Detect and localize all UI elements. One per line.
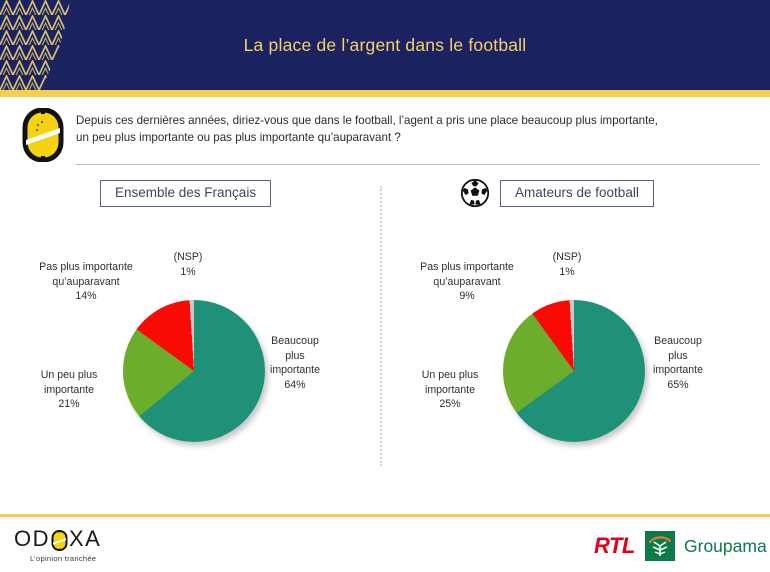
odoxa-brand: OD XA L’opinion tranchée xyxy=(14,527,194,563)
label-line-2: qu’auparavant xyxy=(387,275,547,290)
groupama-wordmark: Groupama xyxy=(684,536,767,556)
odoxa-logo-mark xyxy=(20,108,66,162)
pie-label-pas-plus-importante-right: Pas plus importante qu’auparavant 9% xyxy=(387,260,547,304)
pie-label-nsp-right: (NSP) 1% xyxy=(527,250,607,279)
label-line-2: qu’auparavant xyxy=(6,275,166,290)
page-footer: OD XA L’opinion tranchée RTL xyxy=(0,517,770,572)
question-line-1: Depuis ces dernières années, diriez-vous… xyxy=(76,114,658,127)
groupama-mark-icon xyxy=(645,531,675,561)
pie-label-nsp-left: (NSP) 1% xyxy=(148,250,228,279)
rtl-logo: RTL xyxy=(594,535,635,557)
odoxa-wordmark: OD XA xyxy=(14,527,194,551)
question-line-2: un peu plus importante ou pas plus impor… xyxy=(76,129,760,146)
label-value: 21% xyxy=(4,397,134,412)
label-line-2: plus xyxy=(623,349,733,364)
label-value: 1% xyxy=(148,265,228,280)
header-accent-underline xyxy=(0,97,770,99)
panel-header-right: Amateurs de football xyxy=(460,180,654,206)
label-line-1: Pas plus importante xyxy=(6,260,166,275)
label-value: 1% xyxy=(527,265,607,280)
label-line-2: plus xyxy=(240,349,350,364)
question-block: Depuis ces dernières années, diriez-vous… xyxy=(0,104,770,162)
label-line-2: importante xyxy=(385,383,515,398)
header-accent-bar xyxy=(0,90,770,97)
chart-panel-amateurs-de-football: Amateurs de football Pas plus importante… xyxy=(385,172,765,490)
label-value: 64% xyxy=(240,378,350,393)
odoxa-text-part-1: OD xyxy=(14,527,50,551)
soccer-ball-icon xyxy=(460,178,490,208)
page-title: La place de l’argent dans le football xyxy=(0,0,770,90)
label-line-3: importante xyxy=(623,363,733,378)
pie-label-beaucoup-plus-importante-right: Beaucoup plus importante 65% xyxy=(623,334,733,392)
label-line-1: Pas plus importante xyxy=(387,260,547,275)
label-line-2: importante xyxy=(4,383,134,398)
label-line-1: Beaucoup xyxy=(240,334,350,349)
panel-divider xyxy=(380,186,382,466)
pie-label-un-peu-plus-importante-left: Un peu plus importante 21% xyxy=(4,368,134,412)
label-line-1: Un peu plus xyxy=(4,368,134,383)
groupama-logo: Groupama xyxy=(645,531,767,561)
pie-label-pas-plus-importante-left: Pas plus importante qu’auparavant 14% xyxy=(6,260,166,304)
label-value: 65% xyxy=(623,378,733,393)
label-value: 25% xyxy=(385,397,515,412)
label-line-1: Un peu plus xyxy=(385,368,515,383)
odoxa-o-icon xyxy=(51,530,68,551)
question-separator xyxy=(76,164,760,165)
label-value: 9% xyxy=(387,289,547,304)
pie-label-un-peu-plus-importante-right: Un peu plus importante 25% xyxy=(385,368,515,412)
odoxa-tagline: L’opinion tranchée xyxy=(30,554,194,563)
label-line-1: Beaucoup xyxy=(623,334,733,349)
pie-label-beaucoup-plus-importante-left: Beaucoup plus importante 64% xyxy=(240,334,350,392)
panel-header-left: Ensemble des Français xyxy=(100,180,271,206)
question-text: Depuis ces dernières années, diriez-vous… xyxy=(76,112,760,146)
chart-panel-ensemble-des-francais: Ensemble des Français Pas plus important… xyxy=(0,172,380,490)
page-header: La place de l’argent dans le football xyxy=(0,0,770,90)
label-line-1: (NSP) xyxy=(148,250,228,265)
label-line-3: importante xyxy=(240,363,350,378)
panel-title-ensemble-des-francais: Ensemble des Français xyxy=(100,180,271,207)
odoxa-text-part-2: XA xyxy=(69,527,101,551)
charts-area: Ensemble des Français Pas plus important… xyxy=(0,172,770,490)
label-line-1: (NSP) xyxy=(527,250,607,265)
panel-title-amateurs-de-football: Amateurs de football xyxy=(500,180,654,207)
label-value: 14% xyxy=(6,289,166,304)
